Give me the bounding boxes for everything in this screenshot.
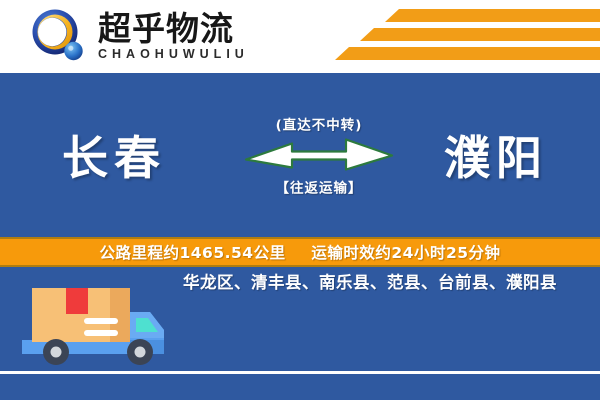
double-headed-arrow-icon [244,138,394,172]
company-name-cn: 超乎物流 [98,12,249,47]
delivery-truck-icon [18,278,168,368]
banner-header: 超乎物流 CHAOHUWULIU [0,0,600,73]
logistics-route-banner: 超乎物流 CHAOHUWULIU 长春 (直达不中转) 【往返运输】 濮阳 公路… [0,0,600,400]
distance-label: 公路里程约1465.54公里 [99,244,285,262]
company-name-pinyin: CHAOHUWULIU [98,48,249,62]
brand-logo: 超乎物流 CHAOHUWULIU [30,8,249,66]
duration-label: 运输时效约24小时25分钟 [311,244,500,262]
stripe-3 [335,47,600,60]
stripe-1 [385,9,600,22]
crescent-circle-logo-icon [30,8,88,66]
route-arrow-block: (直达不中转) 【往返运输】 [243,114,395,197]
route-note-roundtrip: 【往返运输】 [243,177,395,197]
brand-text: 超乎物流 CHAOHUWULIU [98,12,249,61]
route-note-direct: (直达不中转) [243,114,395,134]
origin-city: 长春 [62,122,166,188]
stripe-2 [360,28,600,41]
info-bar-content: 公路里程约1465.54公里 运输时效约24小时25分钟 [99,241,500,263]
decorative-stripes [340,9,600,67]
road-surface [0,374,600,400]
coverage-area-list: 华龙区、清丰县、南乐县、范县、台前县、濮阳县 [150,272,590,294]
route-section: 长春 (直达不中转) 【往返运输】 濮阳 [0,73,600,237]
destination-city: 濮阳 [444,122,548,188]
route-info-bar: 公路里程约1465.54公里 运输时效约24小时25分钟 [0,237,600,267]
